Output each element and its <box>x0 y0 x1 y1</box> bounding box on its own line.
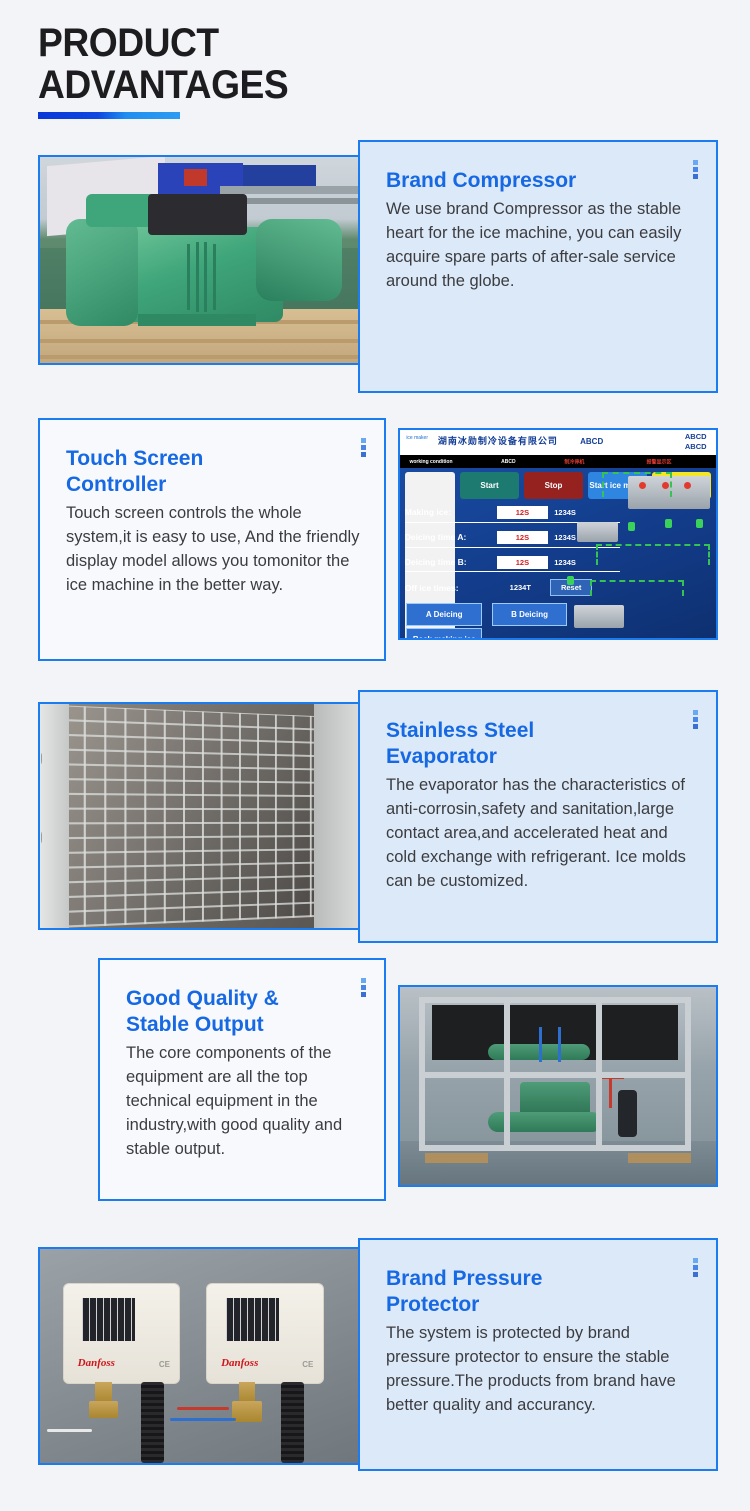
danfoss-logo: Danfoss <box>221 1357 258 1369</box>
page-title: PRODUCT ADVANTAGES <box>38 22 307 106</box>
ice-machine-unit-photo <box>398 985 718 1187</box>
danfoss-logo: Danfoss <box>78 1357 115 1369</box>
hmi-row-deicing-b: Deicing time B: 12S 1234S <box>405 553 620 573</box>
hmi-alarm-2: 报警显示区 <box>646 458 671 465</box>
advantage-card-5-title-line2: Protector <box>386 1293 479 1316</box>
advantage-card-4: Good Quality & Stable Output The core co… <box>98 958 386 1201</box>
advantage-card-4-body: The core components of the equipment are… <box>126 1041 360 1161</box>
advantage-card-2-title-line1: Touch Screen <box>66 447 203 470</box>
hmi-status-value: ABCD <box>501 459 515 465</box>
three-dots-icon <box>693 1258 698 1277</box>
advantage-card-3-title: Stainless Steel Evaporator <box>386 718 692 770</box>
hmi-schematic-pipe <box>596 544 710 565</box>
advantage-card-2: Touch Screen Controller Touch screen con… <box>38 418 386 661</box>
hmi-stop-button[interactable]: Stop <box>524 472 583 499</box>
hmi-row-3-value[interactable]: 12S <box>497 556 549 569</box>
compressor-photo <box>38 155 370 365</box>
advantage-card-2-title-line2: Controller <box>66 473 166 496</box>
evaporator-photo <box>38 702 368 930</box>
advantage-card-3: Stainless Steel Evaporator The evaporato… <box>358 690 718 943</box>
hmi-alarm-1: 制冷停机 <box>564 458 584 465</box>
title-underline-bar <box>38 112 180 119</box>
page-title-line2: ADVANTAGES <box>38 64 288 106</box>
advantage-card-4-title: Good Quality & Stable Output <box>126 986 360 1038</box>
pressure-protector-photo: Danfoss CE Danfoss CE <box>38 1247 368 1465</box>
advantage-card-1-title: Brand Compressor <box>386 168 692 194</box>
advantage-card-5-title: Brand Pressure Protector <box>386 1266 692 1318</box>
hmi-status-label: working condition <box>409 459 452 465</box>
advantage-card-4-title-line2: Stable Output <box>126 1013 264 1036</box>
hmi-off-ice-value: 1234T <box>497 583 544 592</box>
hmi-schematic-pipe <box>602 472 672 497</box>
hmi-header-right-1: ABCD <box>685 432 707 442</box>
advantage-card-1: Brand Compressor We use brand Compressor… <box>358 140 718 393</box>
hmi-logo-icon: ice maker <box>406 435 428 441</box>
hmi-schematic-pipe <box>590 580 685 597</box>
hmi-b-deicing-button[interactable]: B Deicing <box>492 603 568 626</box>
hmi-header-right: ABCD ABCD <box>685 432 707 452</box>
danfoss-pressure-switch: Danfoss CE <box>206 1283 323 1384</box>
advantage-card-3-title-line2: Evaporator <box>386 745 497 768</box>
ce-mark-icon: CE <box>159 1360 170 1369</box>
hmi-row-3-total: 1234S <box>554 558 576 567</box>
hmi-start-button[interactable]: Start <box>460 472 519 499</box>
hmi-row-1-label: Making ice: <box>405 507 491 517</box>
hmi-off-ice-label: Off ice times: <box>405 583 491 593</box>
page-title-line1: PRODUCT <box>38 22 288 64</box>
advantage-card-4-title-line1: Good Quality & <box>126 987 279 1010</box>
advantage-card-3-title-line1: Stainless Steel <box>386 719 534 742</box>
hmi-row-3-label: Deicing time B: <box>405 557 491 567</box>
three-dots-icon <box>361 978 366 997</box>
hmi-row-2-label: Deicing time A: <box>405 532 491 542</box>
hmi-a-deicing-button[interactable]: A Deicing <box>406 603 482 626</box>
three-dots-icon <box>693 160 698 179</box>
advantage-card-5-body: The system is protected by brand pressur… <box>386 1321 692 1417</box>
hmi-header-right-2: ABCD <box>685 442 707 452</box>
hmi-row-off-ice-times: Off ice times: 1234T Reset <box>405 578 620 598</box>
hmi-row-1-total: 1234S <box>554 508 576 517</box>
danfoss-pressure-switch: Danfoss CE <box>63 1283 180 1384</box>
advantage-card-1-body: We use brand Compressor as the stable he… <box>386 197 692 293</box>
advantage-card-5: Brand Pressure Protector The system is p… <box>358 1238 718 1471</box>
touch-screen-controller-photo: ice maker 湖南冰勋制冷设备有限公司 ABCD ABCD ABCD wo… <box>398 428 718 640</box>
hmi-header-center: ABCD <box>580 437 603 446</box>
advantage-card-3-body: The evaporator has the characteristics o… <box>386 773 692 893</box>
hmi-row-2-total: 1234S <box>554 533 576 542</box>
hmi-status-bar: working condition ABCD 制冷停机 报警显示区 <box>400 455 716 469</box>
hmi-back-making-ice-button[interactable]: Back making ice <box>406 628 482 638</box>
hmi-row-1-value[interactable]: 12S <box>497 506 549 519</box>
product-advantages-page: PRODUCT ADVANTAGES Brand C <box>0 0 750 1511</box>
advantage-card-2-title: Touch Screen Controller <box>66 446 360 498</box>
hmi-row-making-ice: Making ice: 12S 1234S <box>405 503 620 523</box>
three-dots-icon <box>361 438 366 457</box>
three-dots-icon <box>693 710 698 729</box>
ce-mark-icon: CE <box>302 1360 313 1369</box>
advantage-card-2-body: Touch screen controls the whole system,i… <box>66 501 360 597</box>
hmi-schematic-pump <box>574 605 625 628</box>
advantage-card-5-title-line1: Brand Pressure <box>386 1267 542 1290</box>
hmi-company-name: 湖南冰勋制冷设备有限公司 <box>438 434 558 447</box>
hmi-row-2-value[interactable]: 12S <box>497 531 549 544</box>
hmi-schematic-pump <box>577 522 618 543</box>
